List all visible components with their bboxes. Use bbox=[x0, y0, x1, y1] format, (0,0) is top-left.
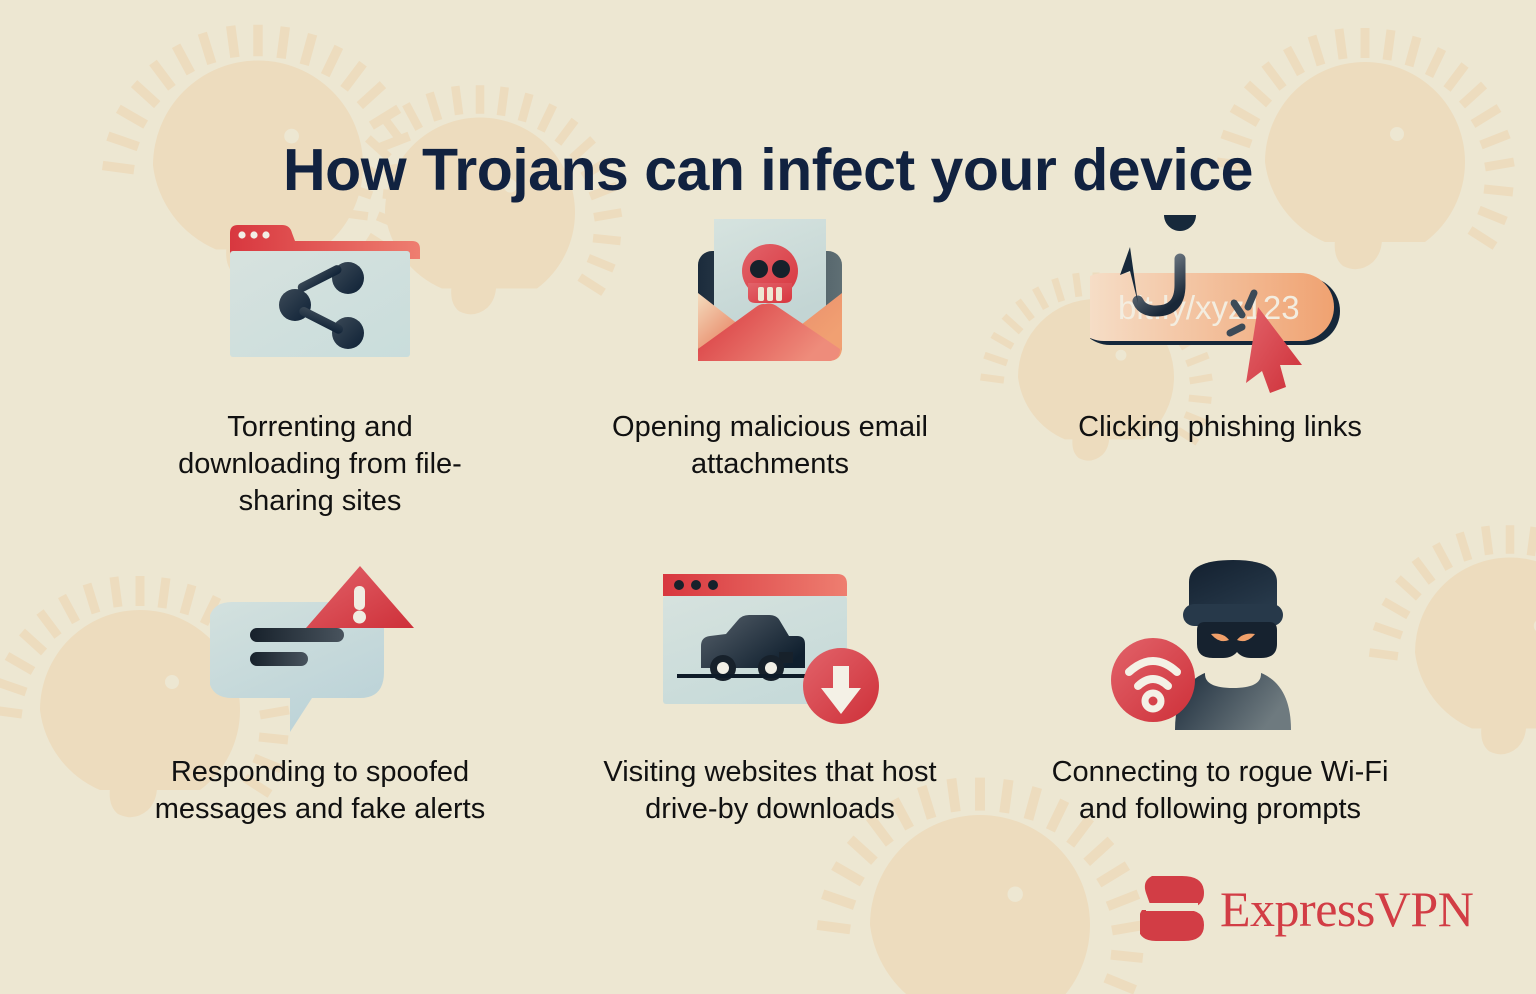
item-caption: Clicking phishing links bbox=[1078, 409, 1362, 446]
expressvpn-e-mark bbox=[1140, 872, 1206, 946]
infographic-canvas: How Trojans can infect your device bbox=[0, 0, 1536, 994]
item-caption: Opening malicious email attachments bbox=[600, 409, 940, 483]
item-email-attachments: Opening malicious email attachments bbox=[545, 200, 995, 545]
item-torrenting: Torrenting and downloading from file-sha… bbox=[95, 200, 545, 545]
item-caption: Responding to spoofed messages and fake … bbox=[150, 754, 490, 828]
expressvpn-logo[interactable]: ExpressVPN bbox=[1140, 872, 1473, 946]
item-drive-by-downloads: Visiting websites that host drive-by dow… bbox=[545, 545, 995, 890]
infographic-content: How Trojans can infect your device bbox=[0, 0, 1536, 994]
item-rogue-wifi: Connecting to rogue Wi-Fi and following … bbox=[995, 545, 1445, 890]
item-caption: Torrenting and downloading from file-sha… bbox=[150, 409, 490, 520]
page-title: How Trojans can infect your device bbox=[0, 136, 1536, 204]
browser-share-icon bbox=[95, 200, 545, 395]
chat-warning-icon bbox=[95, 545, 545, 740]
expressvpn-wordmark: ExpressVPN bbox=[1220, 884, 1473, 934]
item-spoofed-messages: Responding to spoofed messages and fake … bbox=[95, 545, 545, 890]
envelope-skull-icon bbox=[545, 200, 995, 395]
item-caption: Connecting to rogue Wi-Fi and following … bbox=[1050, 754, 1390, 828]
hacker-wifi-icon bbox=[995, 545, 1445, 740]
browser-download-car-icon bbox=[545, 545, 995, 740]
item-phishing-links: bit.ly/xyz123 Clicking phishing link bbox=[995, 200, 1445, 545]
reasons-grid: Torrenting and downloading from file-sha… bbox=[95, 200, 1445, 890]
phishing-link-icon: bit.ly/xyz123 bbox=[995, 200, 1445, 395]
item-caption: Visiting websites that host drive-by dow… bbox=[600, 754, 940, 828]
